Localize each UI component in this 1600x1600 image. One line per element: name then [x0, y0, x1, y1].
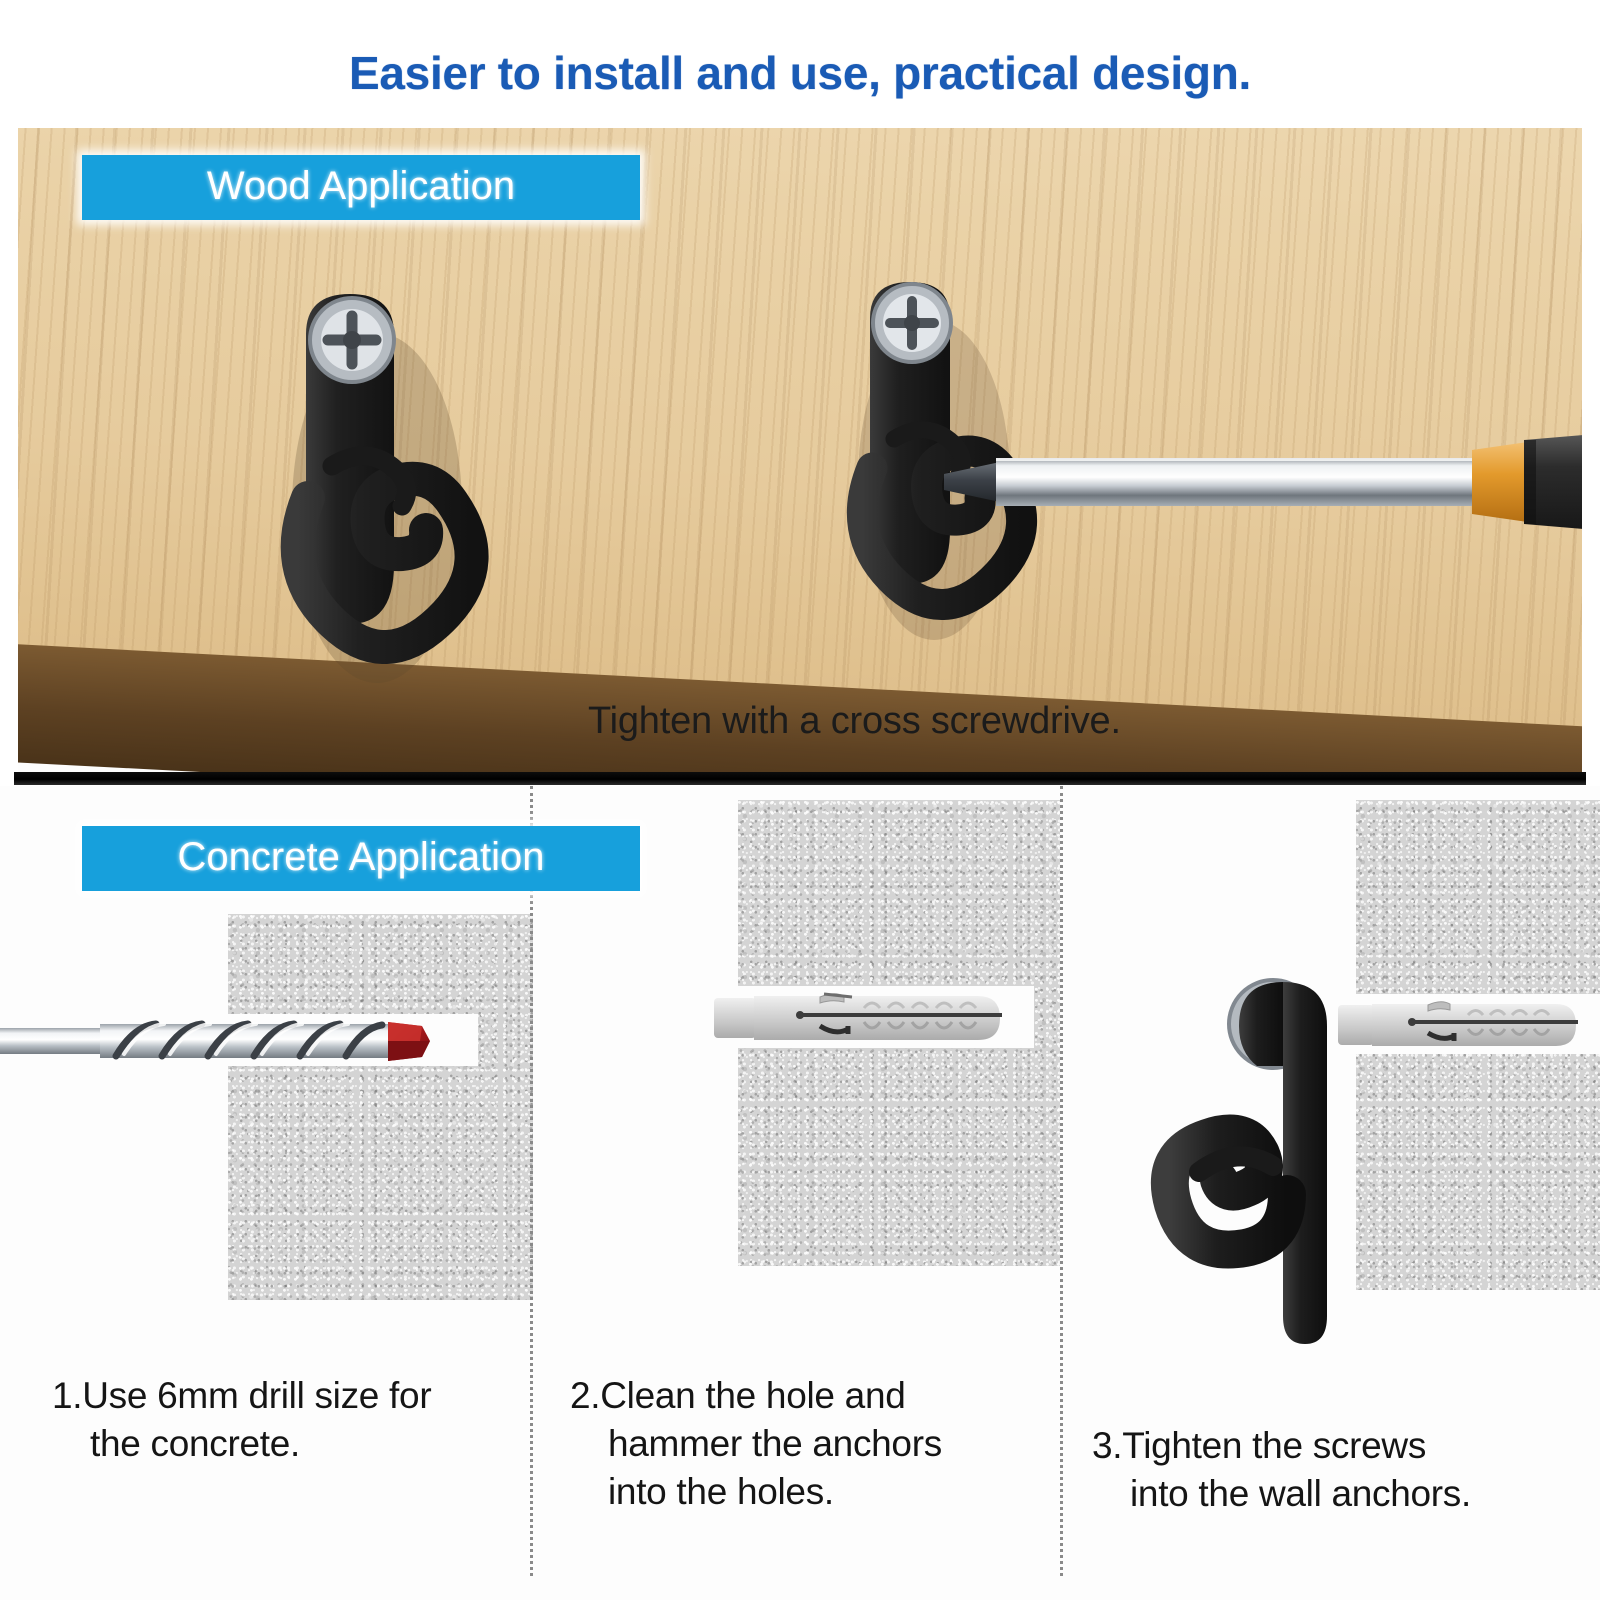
step-1-line1: Use 6mm drill size for [82, 1375, 431, 1416]
concrete-application-section: 1.Use 6mm drill size for the concrete. [0, 786, 1600, 1600]
panel-divider-2 [1060, 786, 1063, 1576]
wall-hook-left [268, 288, 478, 668]
step-2-line2: hammer the anchors [570, 1420, 1040, 1468]
badge-concrete-application: Concrete Application [82, 826, 640, 891]
masonry-drill-bit-icon [0, 1012, 462, 1075]
badge-wood-application: Wood Application [82, 155, 640, 220]
step-3-caption: 3.Tighten the screws into the wall ancho… [1092, 1422, 1592, 1518]
panel-divider-1 [530, 786, 533, 1576]
wood-caption-text: Tighten with a cross screwdrive. [588, 700, 1121, 743]
wall-hook-step3 [1165, 976, 1395, 1376]
cross-screwdriver-icon [938, 428, 1582, 538]
step-1-caption: 1.Use 6mm drill size for the concrete. [52, 1372, 512, 1468]
page-title: Easier to install and use, practical des… [0, 46, 1600, 100]
step-2-caption: 2.Clean the hole and hammer the anchors … [570, 1372, 1040, 1516]
wood-application-photo [18, 128, 1582, 776]
wall-anchor-plug-icon [712, 988, 1042, 1053]
step-3-number: 3. [1092, 1422, 1122, 1470]
phillips-screw-icon [310, 298, 394, 382]
section-divider-rule [14, 772, 1586, 785]
phillips-screw-icon [873, 284, 951, 362]
step-2-line1: Clean the hole and [600, 1375, 905, 1416]
step-2-number: 2. [570, 1372, 600, 1420]
step-3-line2: into the wall anchors. [1092, 1470, 1592, 1518]
step-3-line1: Tighten the screws [1122, 1425, 1426, 1466]
concrete-block-step1 [228, 914, 533, 1300]
step-1-line2: the concrete. [52, 1420, 512, 1468]
step-1-number: 1. [52, 1372, 82, 1420]
step-2-line3: into the holes. [570, 1468, 1040, 1516]
